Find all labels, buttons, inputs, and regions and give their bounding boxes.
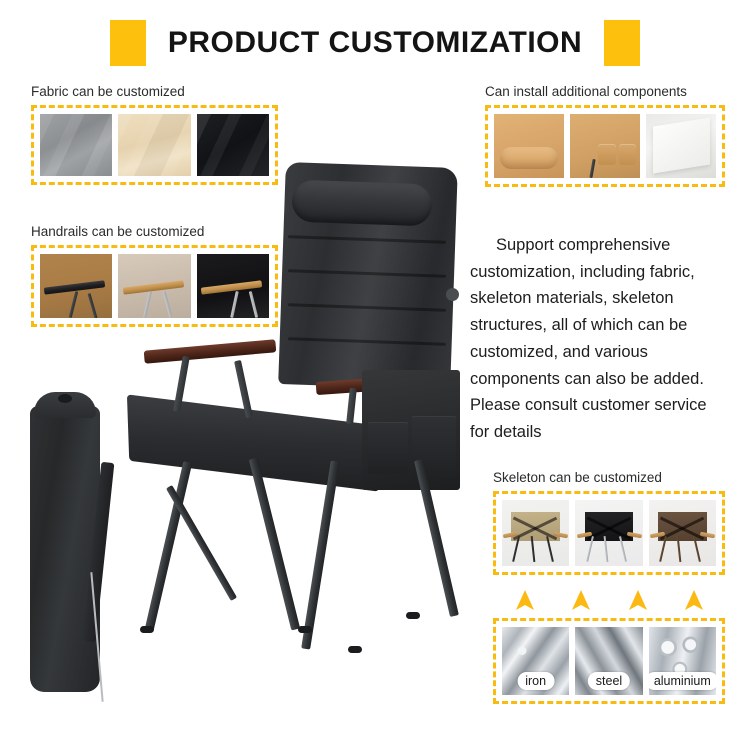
material-aluminium-label: aluminium <box>649 672 716 691</box>
material-aluminium[interactable]: aluminium <box>649 627 716 695</box>
components-box <box>485 105 725 187</box>
carry-bag-image <box>30 392 100 692</box>
chevron-up-icon <box>684 589 704 613</box>
chevron-up-icon <box>571 589 591 613</box>
handrail-option-black[interactable] <box>40 254 112 318</box>
material-iron[interactable]: iron <box>502 627 569 695</box>
panel-skeleton-label: Skeleton can be customized <box>493 470 725 486</box>
component-side-pocket[interactable] <box>570 114 640 178</box>
panel-components: Can install additional components <box>485 84 725 187</box>
main-product-image <box>120 160 480 660</box>
skeleton-option-brown-brown-frame[interactable] <box>649 500 716 566</box>
material-steel[interactable]: steel <box>575 627 642 695</box>
component-headrest-pillow[interactable] <box>494 114 564 178</box>
chevron-up-icon <box>628 589 648 613</box>
material-steel-label: steel <box>588 672 630 691</box>
materials-box: iron steel aluminium <box>493 618 725 704</box>
skeleton-option-tan-black-frame[interactable] <box>502 500 569 566</box>
panel-fabric-label: Fabric can be customized <box>31 84 278 100</box>
title-accent-block-left <box>110 20 146 66</box>
panel-components-label: Can install additional components <box>485 84 725 100</box>
material-arrows-row <box>497 588 722 614</box>
component-footrest-extension[interactable] <box>646 114 716 178</box>
page-title: PRODUCT CUSTOMIZATION <box>168 28 582 58</box>
panel-materials: iron steel aluminium <box>493 618 725 704</box>
skeleton-option-black-silver-frame[interactable] <box>575 500 642 566</box>
skeleton-box <box>493 491 725 575</box>
page-title-banner: PRODUCT CUSTOMIZATION <box>0 18 750 68</box>
material-iron-label: iron <box>517 672 554 691</box>
chevron-up-icon <box>515 589 535 613</box>
title-accent-block-right <box>604 20 640 66</box>
product-customization-page: PRODUCT CUSTOMIZATION Fabric can be cust… <box>0 0 750 750</box>
panel-skeleton: Skeleton can be customized <box>493 470 725 575</box>
fabric-swatch-gray[interactable] <box>40 114 112 176</box>
description-text: Support comprehensive customization, inc… <box>470 232 728 446</box>
